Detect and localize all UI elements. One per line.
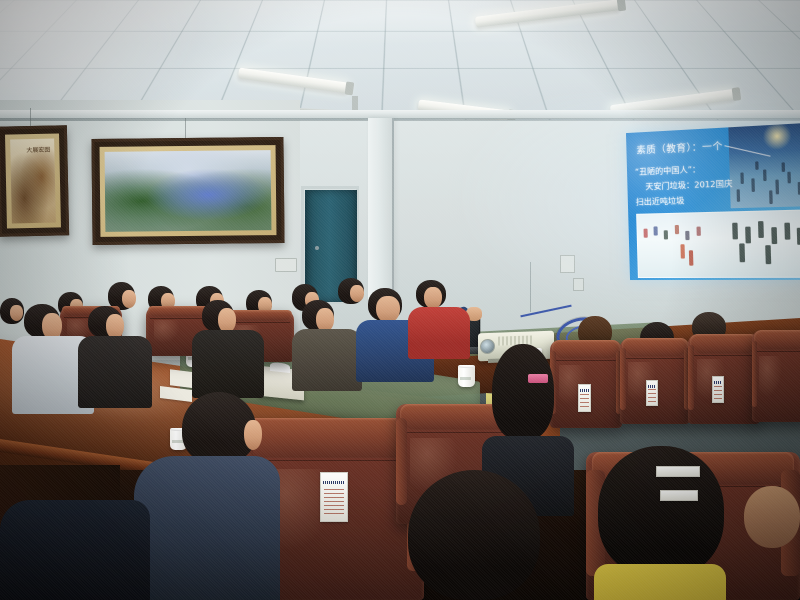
painting-left-wire [30,108,31,128]
pink-hair-tie [528,374,548,383]
wall-pillar-edge [392,118,394,308]
slide-line-4: 扫出近吨垃圾 [636,195,685,208]
leather-executive-chair[interactable] [752,330,800,422]
tissue-sheet [270,362,290,373]
slide-photo-crowd-cleanup [636,209,800,278]
chair-inventory-tag [712,376,724,403]
painting-right-wire [185,118,186,140]
chair-inventory-tag [646,380,658,406]
hair-clip-icon [660,490,698,501]
leather-executive-chair[interactable] [620,338,690,424]
chair-inventory-tag [578,384,591,412]
slide-photo-night-square [728,123,800,208]
painting-right-canvas [105,150,272,232]
framed-painting-left: 大展宏图 [0,125,69,236]
projector-lens-icon [480,339,495,355]
leather-executive-chair[interactable] [550,340,622,428]
conference-room-photo: 大展宏图 素质（教育）：一个 “丑陋的中国人”： 天安门垃圾：2012国庆 [0,0,800,600]
wall-pillar [368,118,394,308]
hair-clip-icon [656,466,700,477]
leather-executive-chair[interactable] [688,334,760,424]
chair-inventory-tag [320,472,348,522]
paper-cup[interactable] [458,365,475,387]
yellow-top [594,564,726,600]
painting-left-canvas: 大展宏图 [10,139,56,224]
wall-outlet-left-icon [275,258,297,272]
painting-left-caption: 大展宏图 [26,145,50,155]
projected-slide: 素质（教育）：一个 “丑陋的中国人”： 天安门垃圾：2012国庆 扫出近吨垃圾 [626,123,800,280]
framed-painting-right [91,137,284,245]
door-knob-icon[interactable] [315,246,319,250]
